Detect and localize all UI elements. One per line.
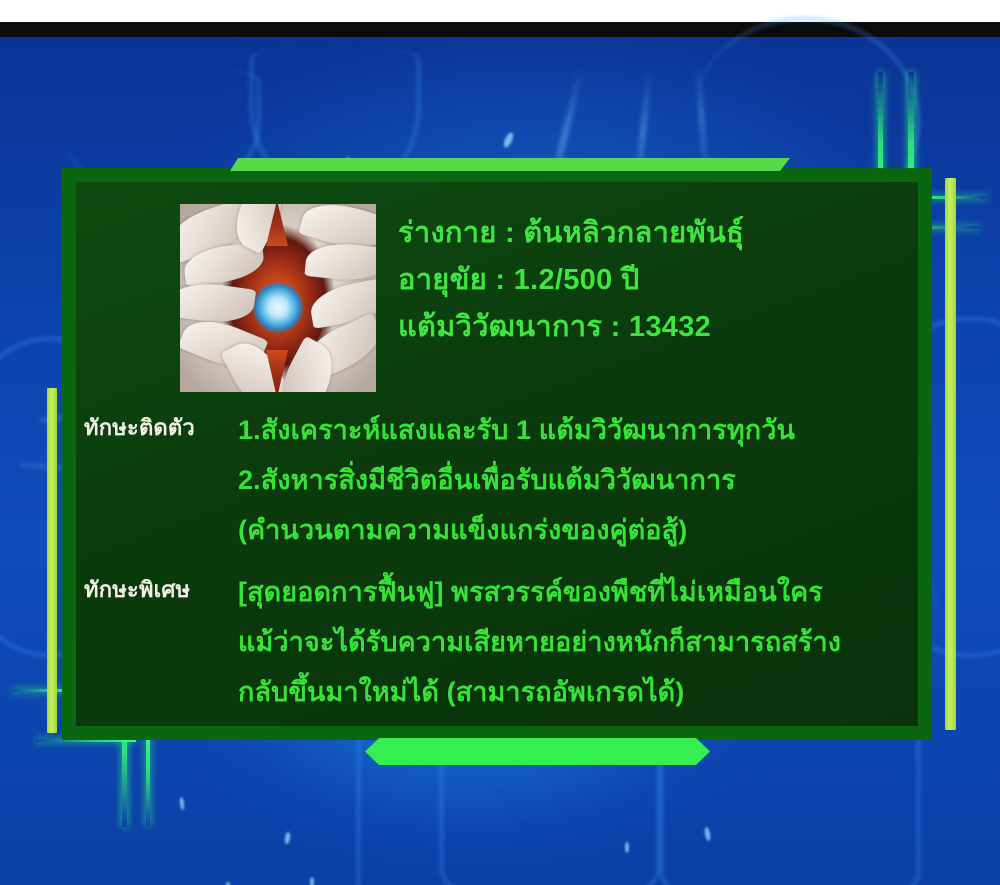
stat-body: ร่างกาย : ต้นหลิวกลายพันธุ์ (398, 210, 928, 257)
corner-deco-bl-line-2 (146, 728, 150, 826)
skill-line: (คำนวนตามความแข็งแกร่งของคู่ต่อสู้) (238, 506, 928, 556)
screenshot-root: ร่างกาย : ต้นหลิวกลายพันธุ์ อายุขัย : 1.… (0, 0, 1000, 885)
avatar[interactable] (180, 204, 376, 392)
skill-lines-special: [สุดยอดการฟื้นฟู] พรสวรรค์ของพืชที่ไม่เห… (238, 568, 928, 718)
side-rail-left (47, 388, 57, 733)
skill-label-passive: ทักษะติดตัว (84, 410, 234, 445)
panel-content: ร่างกาย : ต้นหลิวกลายพันธุ์ อายุขัย : 1.… (62, 168, 932, 740)
stat-lifespan: อายุขัย : 1.2/500 ปี (398, 257, 928, 304)
bg-spark (502, 131, 515, 148)
petal-shape (304, 240, 376, 284)
avatar-artwork (180, 204, 376, 392)
bg-spark (310, 877, 314, 885)
top-white-strip (0, 0, 1000, 22)
skill-lines-passive: 1.สังเคราะห์แสงและรับ 1 แต้มวิวัฒนาการทุ… (238, 406, 928, 556)
skill-line: แม้ว่าจะได้รับความเสียหายอย่างหนักก็สามา… (238, 618, 928, 668)
side-rail-right (945, 178, 956, 730)
skill-line: 1.สังเคราะห์แสงและรับ 1 แต้มวิวัฒนาการทุ… (238, 406, 928, 456)
panel-header-row: ร่างกาย : ต้นหลิวกลายพันธุ์ อายุขัย : 1.… (62, 168, 932, 388)
skill-line: 2.สังหารสิ่งมีชีวิตอื่นเพื่อรับแต้มวิวัฒ… (238, 456, 928, 506)
skill-line: กลับขึ้นมาใหม่ได้ (สามารถอัพเกรดได้) (238, 668, 928, 718)
skill-line: [สุดยอดการฟื้นฟู] พรสวรรค์ของพืชที่ไม่เห… (238, 568, 928, 618)
skill-label-special: ทักษะพิเศษ (84, 572, 234, 607)
panel-bottom-accent-bar (365, 738, 710, 765)
stats-list: ร่างกาย : ต้นหลิวกลายพันธุ์ อายุขัย : 1.… (398, 210, 928, 351)
bg-spark (625, 842, 629, 853)
petal-shape (180, 278, 256, 327)
stat-evolution: แต้มวิวัฒนาการ : 13432 (398, 304, 928, 351)
